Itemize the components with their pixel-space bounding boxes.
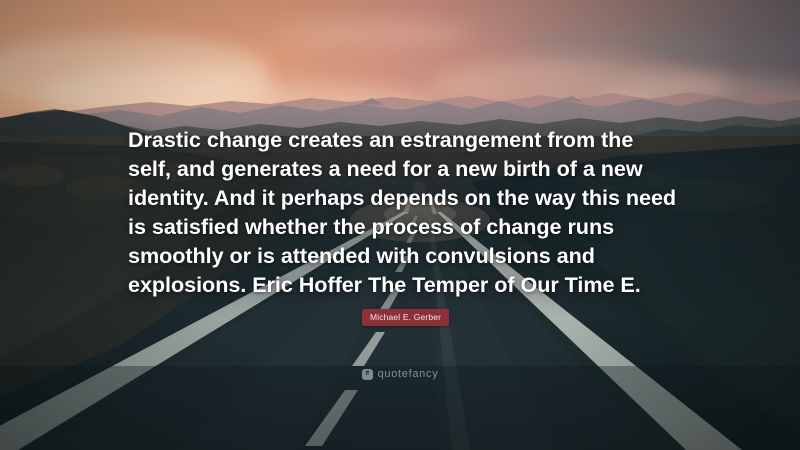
watermark[interactable]: ff quotefancy — [0, 368, 800, 380]
quote-image: Drastic change creates an estrangement f… — [0, 0, 800, 450]
watermark-brand: quotefancy — [378, 368, 439, 380]
author-badge[interactable]: Michael E. Gerber — [362, 309, 449, 326]
logo-glyph: ff — [365, 371, 368, 377]
quote-text: Drastic change creates an estrangement f… — [128, 125, 680, 299]
overlay-content: Drastic change creates an estrangement f… — [0, 0, 800, 450]
quotefancy-logo-icon: ff — [362, 369, 373, 380]
author-name: Michael E. Gerber — [370, 312, 441, 322]
